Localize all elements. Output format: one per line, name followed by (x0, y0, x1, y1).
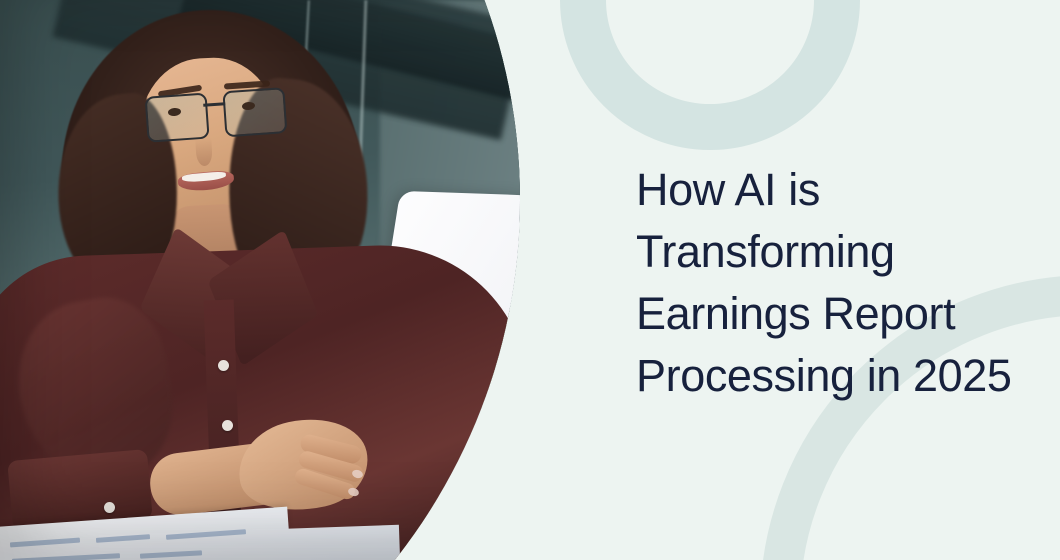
glasses-lens-right (222, 87, 287, 137)
shirt-button (218, 360, 229, 371)
shirt-button (222, 420, 233, 431)
glasses-lens-left (145, 93, 210, 143)
eyeglasses-icon (145, 87, 286, 143)
article-hero-banner: How AI is Transforming Earnings Report P… (0, 0, 1060, 560)
page-title: How AI is Transforming Earnings Report P… (636, 159, 1036, 407)
cuff-button (104, 502, 115, 513)
glasses-bridge (203, 102, 225, 106)
